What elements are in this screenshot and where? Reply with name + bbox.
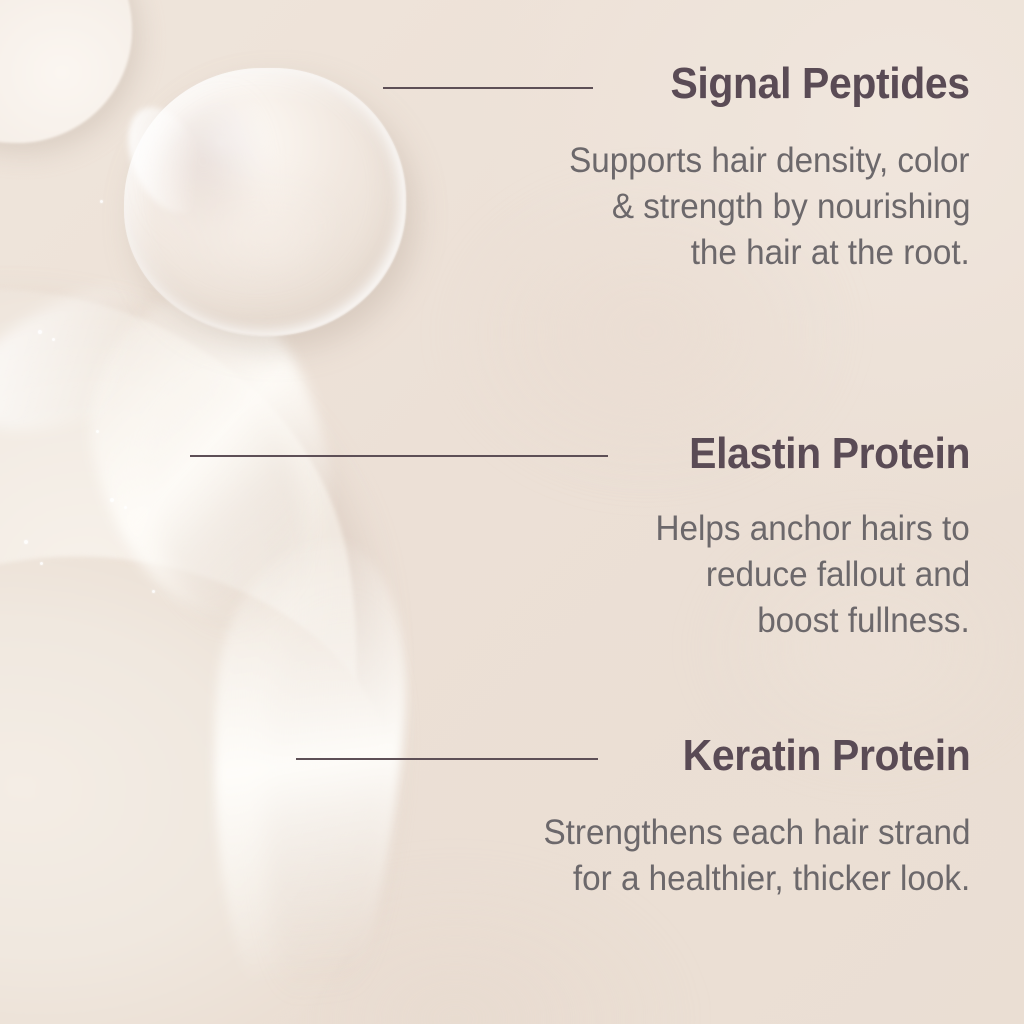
ingredient-body-line-3: boost fullness. bbox=[757, 598, 970, 644]
serum-bubble bbox=[110, 498, 114, 502]
leader-line-signal-peptides bbox=[383, 87, 593, 89]
ingredient-body-line-1: Helps anchor hairs to bbox=[656, 506, 970, 552]
leader-line-elastin-protein bbox=[190, 455, 608, 457]
serum-bubble bbox=[152, 590, 155, 593]
ingredient-heading-keratin-protein: Keratin Protein bbox=[682, 734, 970, 778]
ingredient-body-line-2: reduce fallout and bbox=[706, 552, 970, 598]
ingredient-body-line-1: Strengthens each hair strand bbox=[543, 810, 970, 856]
serum-bubble bbox=[40, 562, 43, 565]
product-ingredient-infographic: Signal Peptides Supports hair density, c… bbox=[0, 0, 1024, 1024]
serum-bubble bbox=[100, 200, 103, 203]
ingredient-heading-signal-peptides: Signal Peptides bbox=[671, 62, 970, 106]
ingredient-body-line-1: Supports hair density, color bbox=[570, 138, 970, 184]
serum-bubble bbox=[52, 338, 55, 341]
serum-bubble bbox=[96, 430, 99, 433]
serum-bubble bbox=[124, 506, 127, 509]
ingredient-heading-elastin-protein: Elastin Protein bbox=[689, 432, 970, 476]
ingredient-body-line-2: & strength by nourishing bbox=[611, 184, 970, 230]
serum-bubble bbox=[38, 330, 42, 334]
ingredient-body-line-2: for a healthier, thicker look. bbox=[573, 856, 970, 902]
leader-line-keratin-protein bbox=[296, 758, 598, 760]
ingredient-body-line-3: the hair at the root. bbox=[691, 230, 970, 276]
serum-bubble bbox=[24, 540, 28, 544]
